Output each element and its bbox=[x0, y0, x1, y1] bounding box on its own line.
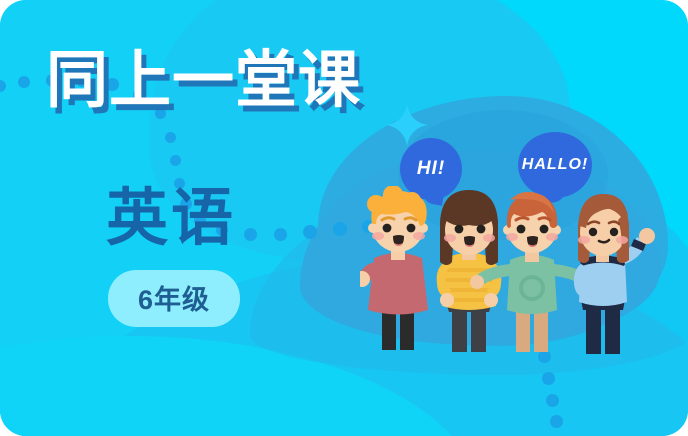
trail-dot bbox=[546, 394, 559, 407]
trail-dot bbox=[333, 222, 347, 236]
child-4 bbox=[574, 194, 655, 354]
trail-dot bbox=[550, 415, 563, 428]
page-title: 同上一堂课 bbox=[46, 48, 361, 113]
children-illustration bbox=[360, 186, 680, 356]
trail-dot bbox=[244, 228, 257, 241]
trail-dot bbox=[170, 155, 181, 166]
trail-dot bbox=[542, 372, 555, 385]
trail-dot bbox=[18, 76, 30, 88]
grade-badge: 6年级 bbox=[108, 270, 240, 327]
subject-title: 英语 bbox=[106, 186, 236, 251]
course-cover-card: 同上一堂课 英语 6年级 HI! HALLO! bbox=[0, 0, 688, 436]
child-1 bbox=[360, 186, 428, 350]
trail-dot bbox=[165, 132, 176, 143]
trail-dot bbox=[303, 225, 317, 239]
trail-dot bbox=[274, 228, 287, 241]
